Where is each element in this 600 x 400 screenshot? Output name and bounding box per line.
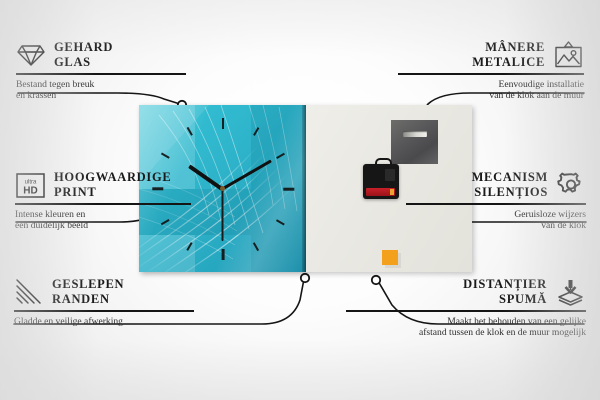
feature-rule <box>16 73 186 75</box>
feature-rule <box>398 73 584 75</box>
mechanism-hanger-loop <box>375 158 392 169</box>
feature-description: Intense kleuren en een duidelijk beeld <box>15 209 191 232</box>
aa-battery <box>366 188 395 196</box>
feature-description: Bestand tegen breuk en krassen <box>16 79 186 102</box>
feature-header: GEHARD GLAS <box>16 40 186 70</box>
feature-title: MECANISM SILENȚIOS <box>472 170 548 200</box>
metal-hanger-plate <box>391 120 438 164</box>
diamond-icon <box>16 42 46 68</box>
gear-icon <box>556 171 586 199</box>
feature-title: GEHARD GLAS <box>54 40 113 70</box>
quartz-clock-mechanism <box>363 164 399 199</box>
feature-description: Gladde en veilige afwerking <box>14 316 194 327</box>
feature-manere-metalice: MÂNERE METALICE Eenvoudige installatie v… <box>398 40 584 101</box>
feature-description: Maakt het behouden van een gelijke afsta… <box>346 316 586 339</box>
feature-geslepen-randen: GESLEPEN RANDEN Gladde en veilige afwerk… <box>14 277 194 327</box>
feature-rule <box>15 203 191 205</box>
feature-description: Geruisloze wijzers van de klok <box>406 209 586 232</box>
feature-rule <box>346 310 586 312</box>
battery-terminal <box>390 189 394 195</box>
feature-hoogwaardige-print: ultra HD HOOGWAARDIGE PRINT Intense kleu… <box>15 170 191 231</box>
feature-mecanism-silentios: MECANISM SILENȚIOS Geruisloze wijzers va… <box>406 170 586 231</box>
feature-description: Eenvoudige installatie van de klok aan d… <box>398 79 584 102</box>
feature-title: HOOGWAARDIGE PRINT <box>54 170 171 200</box>
feature-distantier-spuma: DISTANȚIER SPUMĂ Maakt het behouden van … <box>346 277 586 338</box>
feature-header: DISTANȚIER SPUMĂ <box>346 277 586 307</box>
hanger-slot <box>403 131 427 137</box>
feature-header: GESLEPEN RANDEN <box>14 277 194 307</box>
bevelled-edges-icon <box>14 278 44 306</box>
clock-center-pin <box>220 186 225 191</box>
hour-tick-12 <box>222 118 225 129</box>
feature-rule <box>14 310 194 312</box>
feature-header: MÂNERE METALICE <box>398 40 584 70</box>
feature-header: ultra HD HOOGWAARDIGE PRINT <box>15 170 191 200</box>
feature-gehard-glas: GEHARD GLAS Bestand tegen breuk en krass… <box>16 40 186 101</box>
feature-title: MÂNERE METALICE <box>472 40 545 70</box>
second-hand <box>222 189 224 241</box>
spacer-press-icon <box>555 278 586 306</box>
feature-header: MECANISM SILENȚIOS <box>406 170 586 200</box>
orange-foam-spacer <box>382 250 398 265</box>
infographic-canvas: GEHARD GLAS Bestand tegen breuk en krass… <box>0 0 600 400</box>
feature-title: DISTANȚIER SPUMĂ <box>463 277 547 307</box>
wall-picture-hook-icon <box>553 41 584 69</box>
ultra-hd-icon: ultra HD <box>15 172 46 199</box>
hour-tick-3 <box>283 187 294 190</box>
hd-label: HD <box>23 185 37 196</box>
feature-title: GESLEPEN RANDEN <box>52 277 124 307</box>
hour-tick-6 <box>222 249 225 260</box>
mechanism-detail <box>385 169 395 181</box>
connector-dot-geslepen-randen <box>301 274 309 282</box>
feature-rule <box>406 203 586 205</box>
